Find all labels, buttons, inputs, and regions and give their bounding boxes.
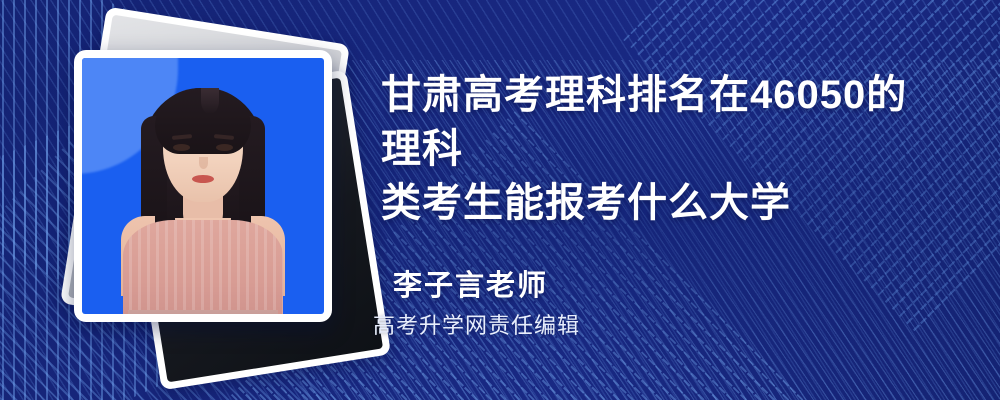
author-photo-card-stack [60,28,350,368]
article-title-line-2: 类考生能报考什么大学 [381,176,941,230]
portrait-nose [199,157,208,169]
banner-text-content: 甘肃高考理科排名在46050的理科 类考生能报考什么大学 李子言老师 高考升学网… [381,0,976,400]
portrait-figure [82,58,324,314]
portrait-dress [123,220,283,314]
author-byline: 李子言老师 高考升学网责任编辑 [381,268,580,342]
portrait-eye-right [216,144,233,151]
author-name: 李子言老师 [393,268,580,304]
author-photo-card [74,50,332,322]
portrait-hair-part [201,88,219,114]
portrait-mouth [192,175,214,183]
article-title-line-1: 甘肃高考理科排名在46050的理科 [381,68,941,176]
portrait-eye-left [173,144,190,151]
article-title: 甘肃高考理科排名在46050的理科 类考生能报考什么大学 [381,68,941,230]
author-role: 高考升学网责任编辑 [373,310,580,342]
article-cover-banner: 甘肃高考理科排名在46050的理科 类考生能报考什么大学 李子言老师 高考升学网… [0,0,1000,400]
portrait-dress-waist [128,310,278,314]
author-portrait-photo [82,58,324,314]
